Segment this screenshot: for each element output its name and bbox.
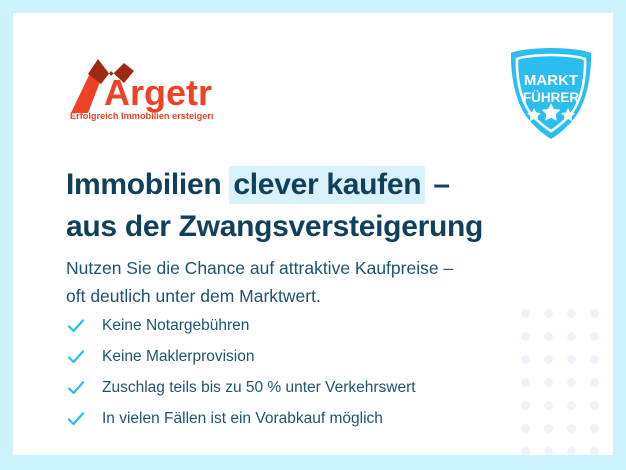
list-item-label: In vielen Fällen ist ein Vorabkauf mögli… (102, 410, 383, 428)
list-item: Keine Maklerprovision (67, 341, 537, 372)
decor-dot (544, 447, 553, 455)
decor-dot (544, 332, 553, 341)
decor-dot (567, 309, 576, 318)
benefits-list: Keine Notargebühren Keine Maklerprovisio… (67, 310, 537, 434)
decor-dot (590, 309, 599, 318)
headline-part-2: – (425, 168, 449, 201)
decor-dot (567, 447, 576, 455)
subheading-line-1: Nutzen Sie die Chance auf attraktive Kau… (66, 254, 586, 282)
decor-dot (544, 355, 553, 364)
decor-dot (567, 424, 576, 433)
decor-dot (544, 309, 553, 318)
decor-dot (521, 447, 530, 455)
logo-wordmark: Argetra (104, 72, 213, 113)
headline: Immobilien clever kaufen – aus der Zwang… (66, 165, 586, 247)
decor-dot (590, 355, 599, 364)
logo-tagline-text: Erfolgreich Immobilien ersteigern (70, 111, 213, 121)
marktfuehrer-badge: MARKT FÜHRER (505, 46, 597, 143)
headline-highlight: clever kaufen (229, 166, 425, 204)
badge-line-1: MARKT (524, 72, 578, 89)
decor-dot (567, 401, 576, 410)
decor-dot (567, 332, 576, 341)
decor-dot (567, 355, 576, 364)
argetra-logo[interactable]: Argetra Erfolgreich Immobilien ersteiger… (68, 57, 213, 123)
check-icon (67, 379, 85, 397)
decor-dot (567, 378, 576, 387)
decor-dot (590, 332, 599, 341)
list-item: Zuschlag teils bis zu 50 % unter Verkehr… (67, 372, 537, 403)
decor-dot (590, 401, 599, 410)
decor-dot (590, 424, 599, 433)
list-item: In vielen Fällen ist ein Vorabkauf mögli… (67, 403, 537, 434)
headline-part-1: Immobilien (66, 168, 229, 201)
list-item-label: Zuschlag teils bis zu 50 % unter Verkehr… (102, 379, 416, 397)
list-item-label: Keine Maklerprovision (102, 348, 255, 366)
banner-card: Argetra Erfolgreich Immobilien ersteiger… (13, 13, 613, 455)
badge-line-2: FÜHRER (523, 90, 579, 105)
list-item: Keine Notargebühren (67, 310, 537, 341)
check-icon (67, 317, 85, 335)
subheading-line-2: oft deutlich unter dem Marktwert. (66, 282, 586, 310)
decor-dot (590, 447, 599, 455)
promo-banner: Argetra Erfolgreich Immobilien ersteiger… (0, 0, 626, 470)
decor-dot (590, 378, 599, 387)
headline-line-2: aus der Zwangsversteigerung (66, 207, 586, 247)
subheading: Nutzen Sie die Chance auf attraktive Kau… (66, 254, 586, 310)
list-item-label: Keine Notargebühren (102, 317, 249, 335)
check-icon (67, 348, 85, 366)
decor-dot (544, 378, 553, 387)
decor-dot (544, 424, 553, 433)
decor-dot (544, 401, 553, 410)
check-icon (67, 410, 85, 428)
